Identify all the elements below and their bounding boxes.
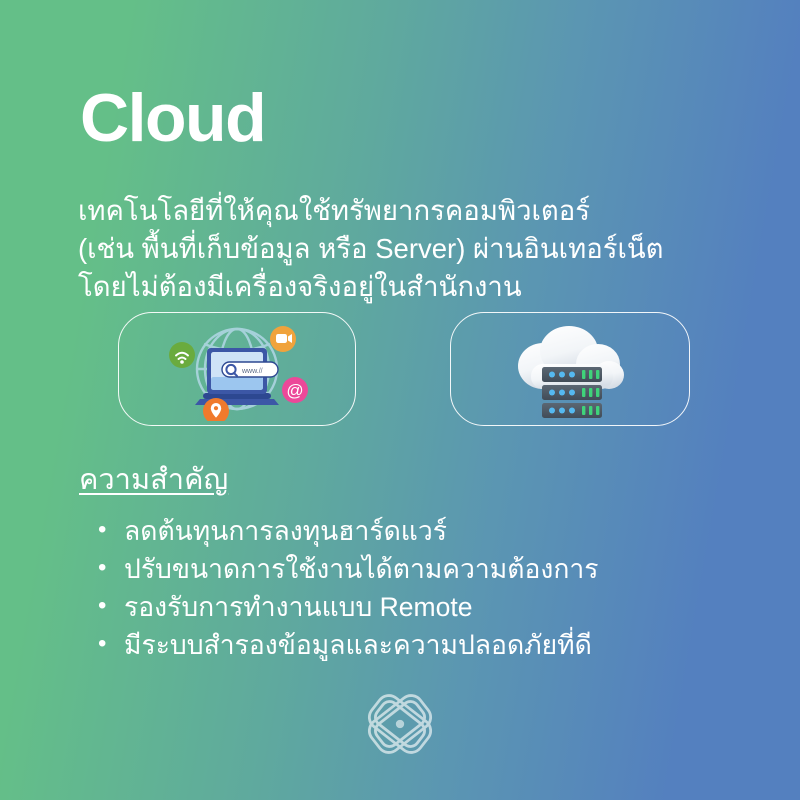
description-line-2: (เช่น พื้นที่เก็บข้อมูล หรือ Server) ผ่า…	[78, 230, 738, 268]
description-line-1: เทคโนโลยีที่ให้คุณใช้ทรัพยากรคอมพิวเตอร์	[78, 192, 738, 230]
laptop-search-text: www.//	[241, 368, 263, 375]
description-block: เทคโนโลยีที่ให้คุณใช้ทรัพยากรคอมพิวเตอร์…	[78, 192, 738, 306]
illustration-card-internet: www.// @	[118, 312, 356, 426]
slide-root: Cloud เทคโนโลยีที่ให้คุณใช้ทรัพยากรคอมพิ…	[0, 0, 800, 800]
list-item: ปรับขนาดการใช้งานได้ตามความต้องการ	[96, 551, 716, 587]
page-title: Cloud	[80, 84, 265, 152]
cloud-server-icon	[503, 319, 637, 419]
interlocking-rectangles-logo	[354, 686, 446, 762]
internet-laptop-globe-icon: www.// @	[153, 317, 321, 421]
list-item: ลดต้นทุนการลงทุนฮาร์ดแวร์	[96, 513, 716, 549]
at-symbol: @	[286, 381, 303, 400]
list-item: รองรับการทำงานแบบ Remote	[96, 589, 716, 625]
description-line-3: โดยไม่ต้องมีเครื่องจริงอยู่ในสำนักงาน	[78, 268, 738, 306]
illustration-card-group: www.// @	[0, 312, 800, 428]
list-item: มีระบบสำรองข้อมูลและความปลอดภัยที่ดี	[96, 627, 716, 663]
benefit-list: ลดต้นทุนการลงทุนฮาร์ดแวร์ ปรับขนาดการใช้…	[96, 513, 716, 665]
section-heading-importance: ความสำคัญ	[79, 462, 228, 498]
illustration-card-cloud-server	[450, 312, 690, 426]
server-rack	[542, 367, 602, 418]
